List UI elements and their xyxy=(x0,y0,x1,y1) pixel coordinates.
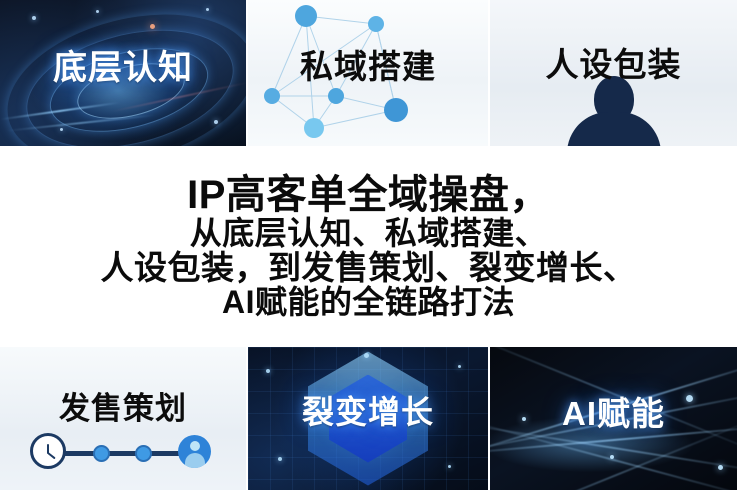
panel-label-persona-packaging: 人设包装 xyxy=(490,38,737,86)
spark-dot-icon xyxy=(364,353,369,358)
panel-launch-planning[interactable]: 发售策划 xyxy=(0,347,246,490)
panel-private-domain-build[interactable]: 私域搭建 xyxy=(248,0,488,146)
panel-label-private-domain-build: 私域搭建 xyxy=(248,40,488,88)
timeline-node-icon xyxy=(135,445,152,462)
panel-persona-packaging[interactable]: 人设包装 xyxy=(490,0,737,146)
timeline-end-avatar-icon xyxy=(178,435,211,468)
headline-line-4: AI赋能的全链路打法 xyxy=(222,286,515,319)
star-dot-icon xyxy=(32,16,36,20)
panel-foundational-cognition[interactable]: 底层认知 xyxy=(0,0,246,146)
star-dot-icon xyxy=(150,24,155,29)
panel-label-launch-planning: 发售策划 xyxy=(0,383,246,428)
star-dot-icon xyxy=(206,8,209,11)
timeline-track-icon xyxy=(56,451,188,456)
panel-ai-empowerment[interactable]: AI赋能 xyxy=(490,347,737,490)
spark-dot-icon xyxy=(278,457,282,461)
star-dot-icon xyxy=(60,128,63,131)
headline-line-1: IP高客单全域操盘， xyxy=(187,175,550,216)
star-dot-icon xyxy=(214,120,218,124)
timeline-node-icon xyxy=(93,445,110,462)
panel-label-ai-empowerment: AI赋能 xyxy=(490,387,737,435)
panel-label-foundational-cognition: 底层认知 xyxy=(0,40,246,89)
headline-band: IP高客单全域操盘， 从底层认知、私域搭建、 人设包装，到发售策划、裂变增长、 … xyxy=(0,146,737,347)
poster-canvas: 底层认知 xyxy=(0,0,737,490)
spark-dot-icon xyxy=(718,465,723,470)
clock-icon xyxy=(30,433,66,469)
panel-label-fission-growth: 裂变增长 xyxy=(248,387,488,433)
panel-fission-growth[interactable]: 裂变增长 xyxy=(248,347,488,490)
star-dot-icon xyxy=(96,10,99,13)
spark-dot-icon xyxy=(448,465,451,468)
headline-line-2: 从底层认知、私域搭建、 xyxy=(190,217,548,250)
spark-dot-icon xyxy=(610,455,614,459)
person-silhouette-icon xyxy=(567,112,661,146)
headline-line-3: 人设包装，到发售策划、裂变增长、 xyxy=(101,251,637,285)
spark-dot-icon xyxy=(266,369,270,373)
spark-dot-icon xyxy=(458,365,461,368)
